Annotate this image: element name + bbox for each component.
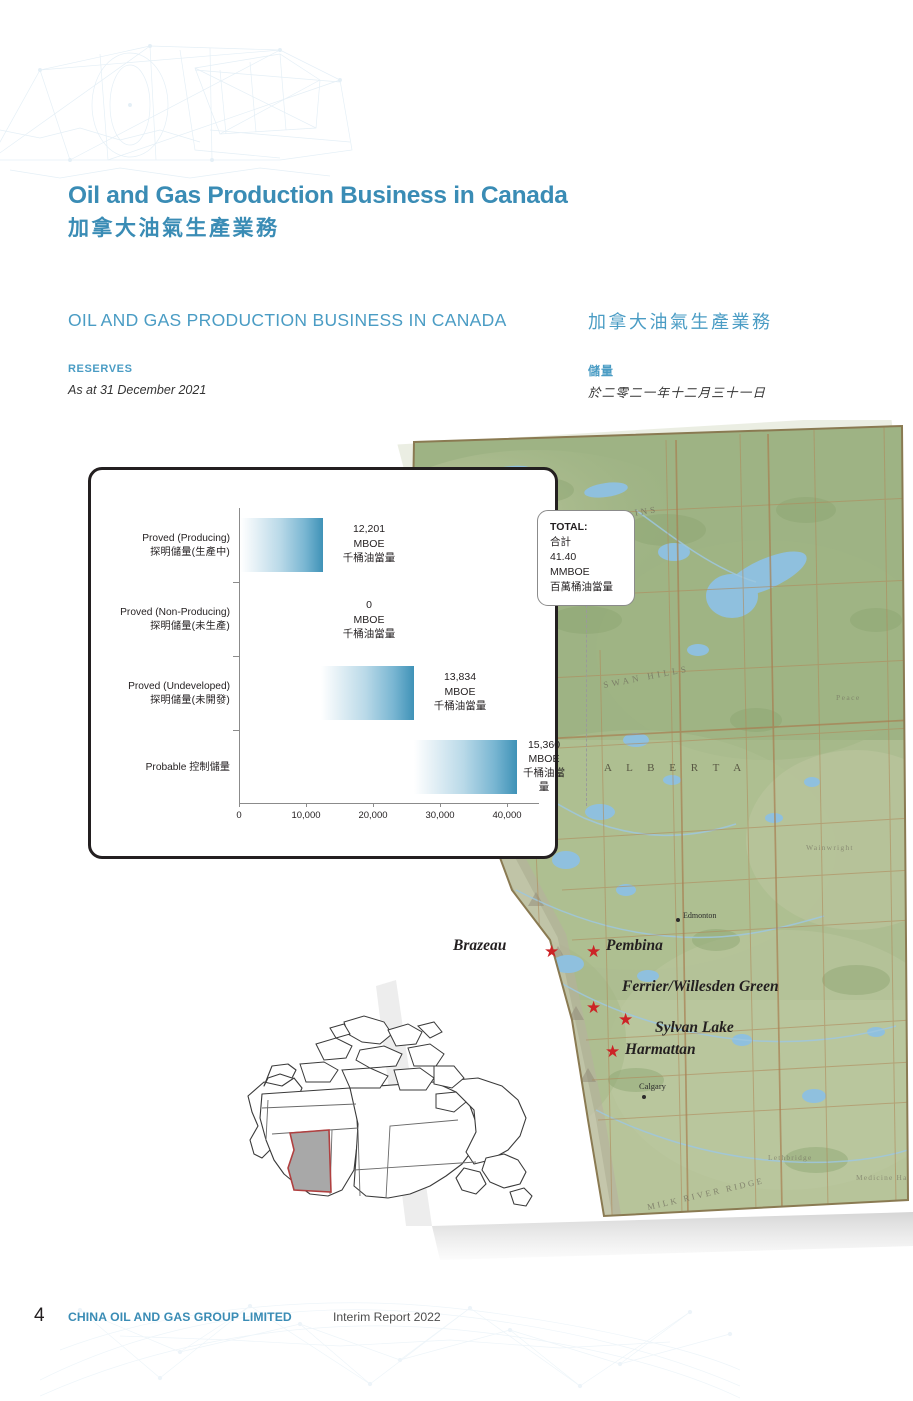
field-label-ferrier-willesden-green: Ferrier/Willesden Green (622, 978, 779, 996)
star-icon-pembina: ★ (586, 943, 601, 960)
value-number: 0 (331, 598, 407, 613)
value-unit: MBOE (422, 685, 498, 700)
page-number: 4 (34, 1305, 45, 1327)
footer-report-name: Interim Report 2022 (333, 1310, 441, 1324)
y-tick (233, 582, 239, 583)
field-label-sylvan-lake: Sylvan Lake (655, 1019, 734, 1037)
subheading-date-cn: 於二零二一年十二月三十一日 (588, 382, 766, 401)
value-unit-cn: 千桶油當量 (331, 551, 407, 566)
subheading-reserves-cn: 儲量 (588, 362, 614, 379)
x-axis (239, 803, 539, 804)
total-value: 41.40 (550, 550, 624, 565)
tanker-truck-wireframe-icon (0, 10, 400, 190)
bar-proved-producing (241, 518, 323, 572)
city-label-calgary: Calgary (639, 1081, 666, 1091)
subheading-date-en: As at 31 December 2021 (68, 383, 206, 397)
city-dot-calgary (642, 1095, 646, 1099)
value-label-proved-undeveloped: 13,834 MBOE 千桶油當量 (422, 670, 498, 714)
value-unit: MBOE (521, 752, 567, 766)
category-label-cn: 探明儲量(未開發) (128, 694, 230, 708)
bar-proved-undeveloped (321, 666, 414, 720)
star-icon-sylvan-lake: ★ (618, 1011, 633, 1028)
svg-text:Peace: Peace (836, 693, 861, 702)
y-tick (233, 656, 239, 657)
value-unit-cn: 千桶油當量 (521, 766, 567, 794)
section-heading-cn: 加拿大油氣生產業務 (588, 308, 773, 334)
reserves-chart-panel: 0 10,000 20,000 30,000 40,000 Proved (Pr… (88, 467, 558, 859)
subheading-reserves-en: RESERVES (68, 363, 133, 375)
page-title-cn: 加拿大油氣生產業務 (68, 212, 280, 242)
category-label-probable: Probable 控制儲量 (146, 761, 239, 775)
value-label-proved-producing: 12,201 MBOE 千桶油當量 (331, 522, 407, 566)
report-page: Oil and Gas Production Business in Canad… (0, 0, 913, 1401)
value-number: 12,201 (331, 522, 407, 537)
total-callout: TOTAL: 合計 41.40 MMBOE 百萬桶油當量 (537, 510, 635, 606)
value-label-probable: 15,360 MBOE 千桶油當量 (521, 738, 567, 794)
category-label-en: Proved (Undeveloped) (128, 680, 230, 694)
category-label-en: Proved (Producing) (142, 532, 230, 546)
category-label-cn: 探明儲量(未生產) (120, 620, 230, 634)
field-label-brazeau: Brazeau (453, 937, 506, 955)
x-tick-label: 30,000 (425, 810, 454, 821)
section-heading-en: OIL AND GAS PRODUCTION BUSINESS IN CANAD… (68, 310, 507, 331)
total-unit: MMBOE (550, 565, 624, 580)
star-icon-brazeau: ★ (544, 943, 559, 960)
category-label-en: Proved (Non-Producing) (120, 606, 230, 620)
value-unit-cn: 千桶油當量 (422, 699, 498, 714)
chart-plot-area: 0 10,000 20,000 30,000 40,000 Proved (Pr… (239, 508, 539, 828)
inset-highlight-alberta (288, 1130, 331, 1192)
total-unit-cn: 百萬桶油當量 (550, 580, 624, 595)
total-label-cn: 合計 (550, 535, 624, 550)
x-tick (373, 803, 374, 807)
field-label-pembina: Pembina (606, 937, 663, 955)
footer-company-name: CHINA OIL AND GAS GROUP LIMITED (68, 1310, 292, 1324)
x-tick (239, 803, 240, 807)
province-label: A L B E R T A (604, 762, 747, 774)
x-tick (507, 803, 508, 807)
svg-text:Medicine Hat: Medicine Hat (856, 1173, 911, 1182)
page-title: Oil and Gas Production Business in Canad… (68, 182, 568, 210)
value-unit: MBOE (331, 613, 407, 628)
svg-text:Lethbridge: Lethbridge (768, 1153, 812, 1162)
bar-probable (414, 740, 517, 794)
total-label-en: TOTAL: (550, 520, 624, 535)
category-label-proved-undeveloped: Proved (Undeveloped) 探明儲量(未開發) (128, 680, 239, 708)
x-tick-label: 10,000 (291, 810, 320, 821)
city-dot-edmonton (676, 918, 680, 922)
category-label-en: Probable 控制儲量 (146, 761, 230, 775)
category-label-proved-producing: Proved (Producing) 探明儲量(生產中) (142, 532, 239, 560)
x-tick-label: 20,000 (358, 810, 387, 821)
value-unit: MBOE (331, 537, 407, 552)
category-label-proved-non-producing: Proved (Non-Producing) 探明儲量(未生產) (120, 606, 239, 634)
total-connector-line (586, 600, 587, 806)
x-tick (306, 803, 307, 807)
x-tick (440, 803, 441, 807)
network-wave-watermark-icon (40, 1290, 740, 1401)
category-label-cn: 探明儲量(生產中) (142, 546, 230, 560)
field-label-harmattan: Harmattan (625, 1041, 696, 1059)
value-label-proved-non-producing: 0 MBOE 千桶油當量 (331, 598, 407, 642)
canada-locator-map (238, 1008, 548, 1223)
value-number: 15,360 (521, 738, 567, 752)
star-icon-harmattan: ★ (605, 1043, 620, 1060)
x-tick-label: 0 (236, 810, 241, 821)
city-label-edmonton: Edmonton (683, 911, 716, 920)
value-number: 13,834 (422, 670, 498, 685)
value-unit-cn: 千桶油當量 (331, 627, 407, 642)
star-icon-ferrier: ★ (586, 999, 601, 1016)
x-tick-label: 40,000 (492, 810, 521, 821)
y-tick (233, 730, 239, 731)
svg-text:Wainwright: Wainwright (806, 843, 854, 852)
